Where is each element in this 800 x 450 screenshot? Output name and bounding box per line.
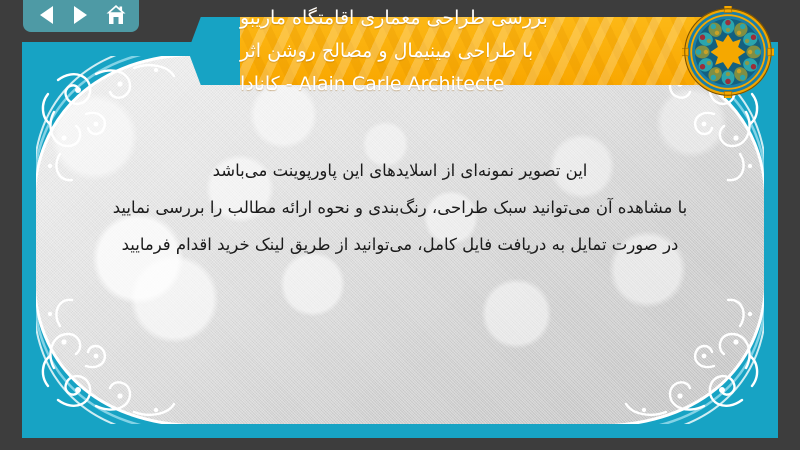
body-line: با مشاهده آن می‌توانید سبک طراحی، رنگ‌بن…: [50, 189, 750, 226]
back-button[interactable]: [33, 3, 59, 27]
forward-button[interactable]: [68, 3, 94, 27]
triangle-left-icon: [40, 6, 53, 24]
body-line: در صورت تمایل به دریافت فایل کامل، می‌تو…: [50, 226, 750, 263]
arabesque-corner-ornament: [596, 276, 764, 424]
body-line: این تصویر نمونه‌ای از اسلایدهای این پاور…: [50, 152, 750, 189]
title-line: بررسی طراحی معماری اقامتگاه ماریبو: [240, 2, 548, 35]
triangle-right-icon: [74, 6, 87, 24]
slide-page: این تصویر نمونه‌ای از اسلایدهای این پاور…: [0, 0, 800, 450]
slide-frame: این تصویر نمونه‌ای از اسلایدهای این پاور…: [22, 42, 778, 438]
slide-content-area: این تصویر نمونه‌ای از اسلایدهای این پاور…: [36, 56, 764, 424]
arabesque-corner-ornament: [36, 276, 204, 424]
home-button[interactable]: [103, 3, 129, 27]
navigation-bar: [23, 0, 139, 32]
home-icon: [104, 4, 128, 26]
slide-body-text: این تصویر نمونه‌ای از اسلایدهای این پاور…: [50, 152, 750, 263]
